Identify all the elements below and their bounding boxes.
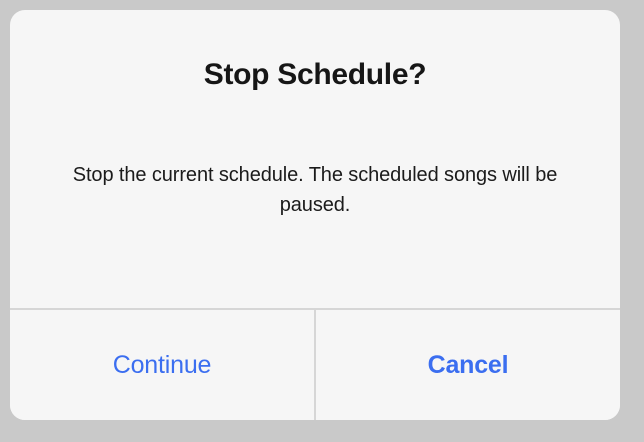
alert-title: Stop Schedule? bbox=[10, 57, 620, 93]
cancel-button[interactable]: Cancel bbox=[316, 310, 620, 420]
alert-dialog: Stop Schedule? Stop the current schedule… bbox=[10, 10, 620, 420]
alert-action-row: Continue Cancel bbox=[10, 308, 620, 420]
alert-message: Stop the current schedule. The scheduled… bbox=[50, 160, 580, 220]
screen: Stop Schedule? Stop the current schedule… bbox=[0, 0, 644, 442]
continue-button[interactable]: Continue bbox=[10, 310, 314, 420]
alert-content: Stop Schedule? Stop the current schedule… bbox=[10, 10, 620, 308]
